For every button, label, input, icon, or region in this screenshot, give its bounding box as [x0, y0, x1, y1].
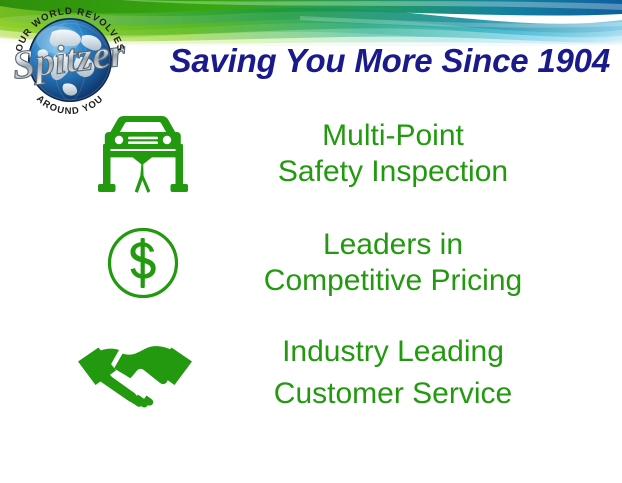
- headline-text: Saving You More Since 1904: [170, 44, 610, 77]
- feature-row-safety-inspection: Multi-Point Safety Inspection: [78, 108, 578, 200]
- feature-row-competitive-pricing: Leaders in Competitive Pricing: [78, 218, 578, 308]
- feature-caption: Industry Leading Customer Service: [208, 331, 578, 415]
- feature-caption-line-1: Leaders in: [208, 227, 578, 263]
- handshake-icon: [62, 326, 208, 420]
- feature-caption: Leaders in Competitive Pricing: [208, 227, 578, 298]
- feature-row-customer-service: Industry Leading Customer Service: [62, 326, 578, 420]
- car-lift-icon: [78, 108, 208, 200]
- feature-caption: Multi-Point Safety Inspection: [208, 118, 578, 189]
- slide-canvas: Spitzer OUR WORLD REVOLVES AROUND YOU Sa…: [0, 0, 622, 483]
- feature-caption-line-1: Multi-Point: [208, 118, 578, 154]
- page-title: Saving You More Since 1904: [138, 38, 616, 82]
- feature-caption-line-2: Safety Inspection: [208, 154, 578, 190]
- spitzer-logo[interactable]: Spitzer OUR WORLD REVOLVES AROUND YOU: [4, 2, 136, 114]
- feature-caption-line-2: Competitive Pricing: [208, 263, 578, 299]
- dollar-circle-icon: [78, 218, 208, 308]
- feature-caption-line-1: Industry Leading: [208, 331, 578, 373]
- feature-caption-line-2: Customer Service: [208, 373, 578, 415]
